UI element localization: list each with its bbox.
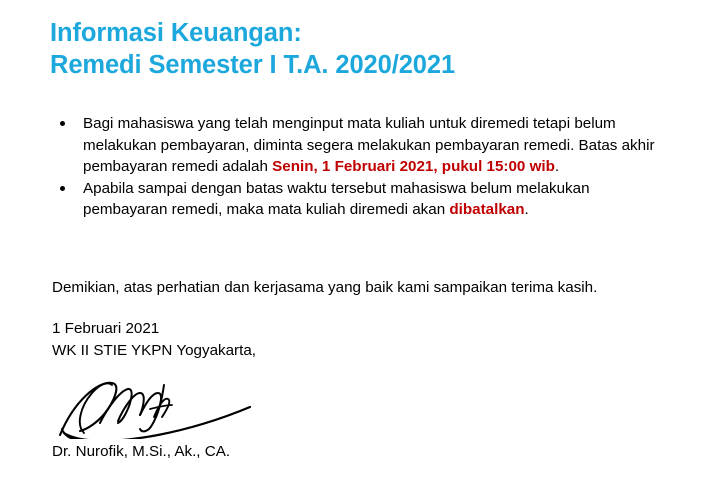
title-line-1: Informasi Keuangan: <box>50 17 670 49</box>
cancellation-highlight: dibatalkan <box>449 201 524 218</box>
title-line-2: Remedi Semester I T.A. 2020/2021 <box>50 49 670 81</box>
body-content: Bagi mahasiswa yang telah menginput mata… <box>52 113 677 221</box>
bullet-1-segment-3: . <box>555 158 559 175</box>
bullet-text-2: Apabila sampai dengan batas waktu terseb… <box>83 178 677 221</box>
bullet-2-segment-3: . <box>525 201 529 218</box>
bullet-text-1: Bagi mahasiswa yang telah menginput mata… <box>83 113 677 178</box>
list-item: Bagi mahasiswa yang telah menginput mata… <box>52 113 677 178</box>
bullet-dot-icon <box>60 186 65 191</box>
handwritten-signature-image <box>54 373 284 439</box>
bullet-dot-icon <box>60 121 65 126</box>
deadline-highlight: Senin, 1 Februari 2021, pukul 15:00 wib <box>272 158 555 175</box>
bullet-list: Bagi mahasiswa yang telah menginput mata… <box>52 113 677 221</box>
signature-name: Dr. Nurofik, M.Si., Ak., CA. <box>52 441 452 463</box>
list-item: Apabila sampai dengan batas waktu terseb… <box>52 178 677 221</box>
signature-position: WK II STIE YKPN Yogyakarta, <box>52 340 452 362</box>
signature-block: 1 Februari 2021 WK II STIE YKPN Yogyakar… <box>52 318 452 463</box>
announcement-slide: Informasi Keuangan: Remedi Semester I T.… <box>0 0 702 477</box>
page-title: Informasi Keuangan: Remedi Semester I T.… <box>50 17 670 81</box>
signature-date: 1 Februari 2021 <box>52 318 452 340</box>
closing-paragraph: Demikian, atas perhatian dan kerjasama y… <box>52 277 677 299</box>
